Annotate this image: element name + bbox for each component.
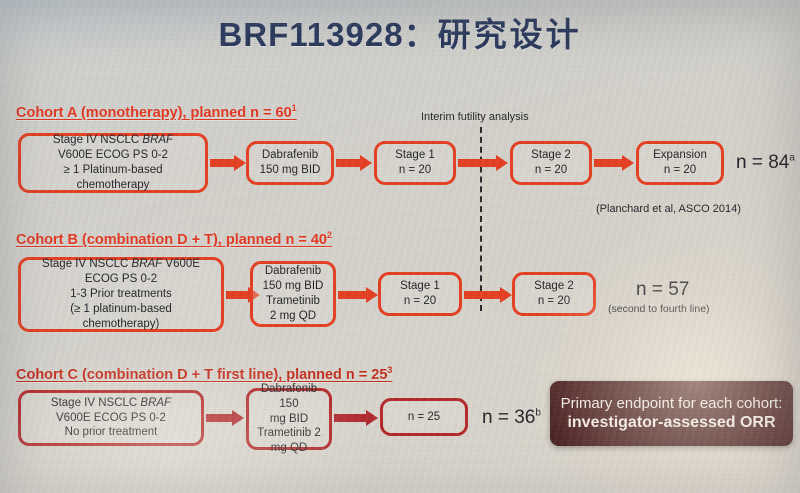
- cohort-c-treatment-box: Dabrafenib 150 mg BID Trametinib 2 mg QD: [246, 388, 332, 450]
- cohort-a-expansion-box: Expansion n = 20: [636, 141, 724, 185]
- title-code: BRF113928: [218, 16, 403, 53]
- cohort-c-elig-line-3: No prior treatment: [51, 425, 171, 440]
- cohort-b-elig-line-2: ECOG PS 0-2: [42, 272, 200, 287]
- cohort-a-elig-line-4: chemotherapy: [53, 178, 173, 193]
- cohort-b-tx-line-4: 2 mg QD: [263, 309, 324, 324]
- cohort-c-elig-line-2: V600E ECOG PS 0-2: [51, 411, 171, 426]
- cohort-b-stage-2-label: Stage 2: [534, 279, 574, 294]
- cohort-b-elig-line-1: Stage IV NSCLC BRAF V600E: [42, 257, 200, 272]
- cohort-b-stage-2-n: n = 20: [534, 294, 574, 309]
- cohort-b-total: n = 57: [636, 279, 689, 301]
- primary-endpoint-callout: Primary endpoint for each cohort: invest…: [550, 381, 793, 446]
- cohort-c-eligibility-box: Stage IV NSCLC BRAF V600E ECOG PS 0-2 No…: [18, 390, 204, 446]
- cohort-b-treatment-box: Dabrafenib 150 mg BID Trametinib 2 mg QD: [250, 261, 336, 327]
- cohort-a-eligibility-box: Stage IV NSCLC BRAF V600E ECOG PS 0-2 ≥ …: [18, 133, 208, 193]
- cohort-c-total: n = 36b: [482, 407, 541, 429]
- cohort-a-treatment-box: Dabrafenib 150 mg BID: [246, 141, 334, 185]
- cohort-a-heading-sup: 1: [292, 103, 297, 113]
- cohort-c-tx-line-3: Trametinib 2: [253, 426, 325, 441]
- cohort-c-arrow-1: [206, 410, 244, 426]
- cohort-a-stage-1-box: Stage 1 n = 20: [374, 141, 456, 185]
- cohort-a-expansion-label: Expansion: [653, 148, 707, 163]
- title-colon: ：: [404, 16, 438, 53]
- cohort-b-heading-sup: 2: [327, 230, 332, 240]
- primary-endpoint-line-1: Primary endpoint for each cohort:: [561, 395, 783, 413]
- cohort-a-stage-2-box: Stage 2 n = 20: [510, 141, 592, 185]
- cohort-a-arrow-4: [594, 155, 634, 171]
- cohort-a-total: n = 84a: [736, 152, 795, 174]
- cohort-a-heading-text: Cohort A (monotherapy), planned n = 60: [16, 105, 292, 121]
- cohort-b-elig-line-4: (≥ 1 platinum-based: [42, 302, 200, 317]
- primary-endpoint-line-2: investigator-assessed ORR: [567, 413, 775, 433]
- cohort-b-tx-line-1: Dabrafenib: [263, 264, 324, 279]
- cohort-c-arrow-2: [334, 410, 378, 426]
- cohort-c-enrolled-n: n = 25: [408, 410, 440, 425]
- title-subject: 研究设计: [438, 16, 582, 53]
- cohort-c-heading-text: Cohort C (combination D + T first line),…: [16, 367, 387, 383]
- cohort-a-total-sup: a: [789, 153, 795, 164]
- cohort-a-citation: (Planchard et al, ASCO 2014): [596, 203, 741, 215]
- cohort-c-heading: Cohort C (combination D + T first line),…: [16, 365, 392, 383]
- slide-canvas: BRF113928：研究设计 Interim futility analysis…: [0, 0, 800, 493]
- cohort-a-elig-line-2: V600E ECOG PS 0-2: [53, 148, 173, 163]
- cohort-a-stage-1-label: Stage 1: [395, 148, 435, 163]
- cohort-b-stage-1-n: n = 20: [400, 294, 440, 309]
- cohort-b-tx-line-3: Trametinib: [263, 294, 324, 309]
- cohort-b-elig-line-3: 1-3 Prior treatments: [42, 287, 200, 302]
- cohort-a-elig-line-1: Stage IV NSCLC BRAF: [53, 133, 173, 148]
- cohort-b-heading-text: Cohort B (combination D + T), planned n …: [16, 232, 327, 248]
- cohort-b-stage-1-label: Stage 1: [400, 279, 440, 294]
- cohort-a-heading: Cohort A (monotherapy), planned n = 601: [16, 103, 297, 121]
- cohort-a-arrow-1: [210, 155, 246, 171]
- cohort-a-arrow-3: [458, 155, 508, 171]
- cohort-a-stage-2-label: Stage 2: [531, 148, 571, 163]
- cohort-b-stage-2-box: Stage 2 n = 20: [512, 272, 596, 316]
- cohort-a-expansion-n: n = 20: [653, 163, 707, 178]
- cohort-a-tx-line-2: 150 mg BID: [260, 163, 321, 178]
- cohort-c-tx-line-2: mg BID: [253, 412, 325, 427]
- interim-futility-label: Interim futility analysis: [421, 111, 529, 123]
- cohort-a-elig-line-3: ≥ 1 Platinum-based: [53, 163, 173, 178]
- cohort-b-heading: Cohort B (combination D + T), planned n …: [16, 230, 332, 248]
- cohort-a-total-text: n = 84: [736, 152, 789, 173]
- cohort-c-tx-line-1: Dabrafenib 150: [253, 382, 325, 412]
- cohort-a-tx-line-1: Dabrafenib: [260, 148, 321, 163]
- cohort-a-stage-1-n: n = 20: [395, 163, 435, 178]
- cohort-c-enrolled-box: n = 25: [380, 398, 468, 436]
- cohort-c-elig-line-1: Stage IV NSCLC BRAF: [51, 396, 171, 411]
- cohort-b-total-text: n = 57: [636, 279, 689, 300]
- cohort-a-arrow-2: [336, 155, 372, 171]
- cohort-a-stage-2-n: n = 20: [531, 163, 571, 178]
- cohort-c-total-sup: b: [535, 408, 541, 419]
- cohort-b-arrow-2: [338, 287, 378, 303]
- cohort-b-subnote: (second to fourth line): [608, 303, 710, 315]
- cohort-c-tx-line-4: mg QD: [253, 441, 325, 456]
- cohort-c-heading-sup: 3: [387, 365, 392, 375]
- cohort-b-tx-line-2: 150 mg BID: [263, 279, 324, 294]
- page-title: BRF113928：研究设计: [0, 8, 800, 56]
- cohort-b-stage-1-box: Stage 1 n = 20: [378, 272, 462, 316]
- cohort-c-total-text: n = 36: [482, 407, 535, 428]
- cohort-b-eligibility-box: Stage IV NSCLC BRAF V600E ECOG PS 0-2 1-…: [18, 257, 224, 332]
- cohort-b-elig-line-5: chemotherapy): [42, 317, 200, 332]
- cohort-b-arrow-3: [464, 287, 512, 303]
